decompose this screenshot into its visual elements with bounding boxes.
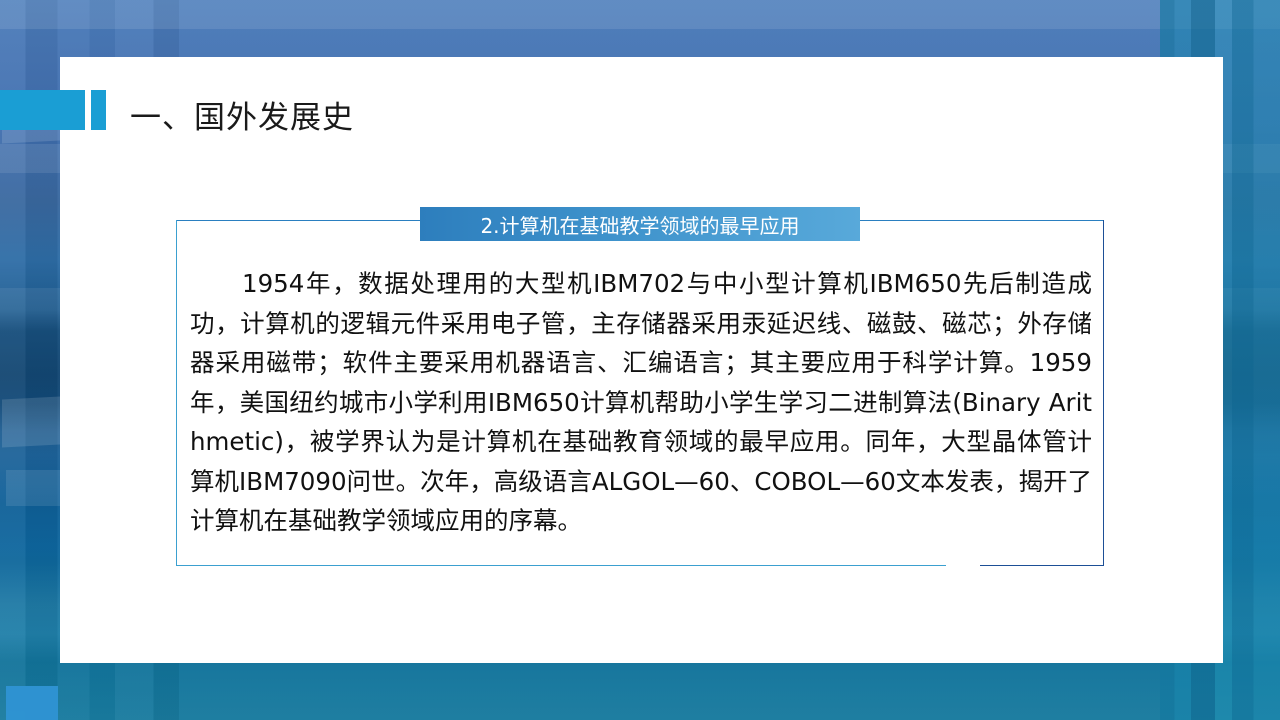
title-accent-bar-narrow bbox=[91, 90, 106, 130]
frame-border-bottom-left-segment bbox=[176, 565, 946, 566]
section-banner-wrap: 2.计算机在基础教学领域的最早应用 bbox=[176, 207, 1104, 241]
title-accent-bar-wide bbox=[0, 90, 85, 130]
page-title: 一、国外发展史 bbox=[130, 92, 354, 137]
body-paragraph: 1954年，数据处理用的大型机IBM702与中小型计算机IBM650先后制造成功… bbox=[190, 264, 1092, 541]
frame-border-right bbox=[1103, 220, 1104, 566]
frame-border-left bbox=[176, 220, 177, 566]
presentation-slide: 一、国外发展史 2.计算机在基础教学领域的最早应用 1954年，数据处理用的大型… bbox=[0, 0, 1280, 720]
decorative-square-accent bbox=[6, 686, 58, 720]
decorative-square bbox=[6, 470, 60, 506]
frame-border-bottom-right-segment bbox=[980, 565, 1104, 566]
decorative-square bbox=[2, 396, 60, 447]
section-banner-label: 2.计算机在基础教学领域的最早应用 bbox=[420, 207, 860, 241]
content-frame: 2.计算机在基础教学领域的最早应用 1954年，数据处理用的大型机IBM702与… bbox=[176, 220, 1104, 566]
